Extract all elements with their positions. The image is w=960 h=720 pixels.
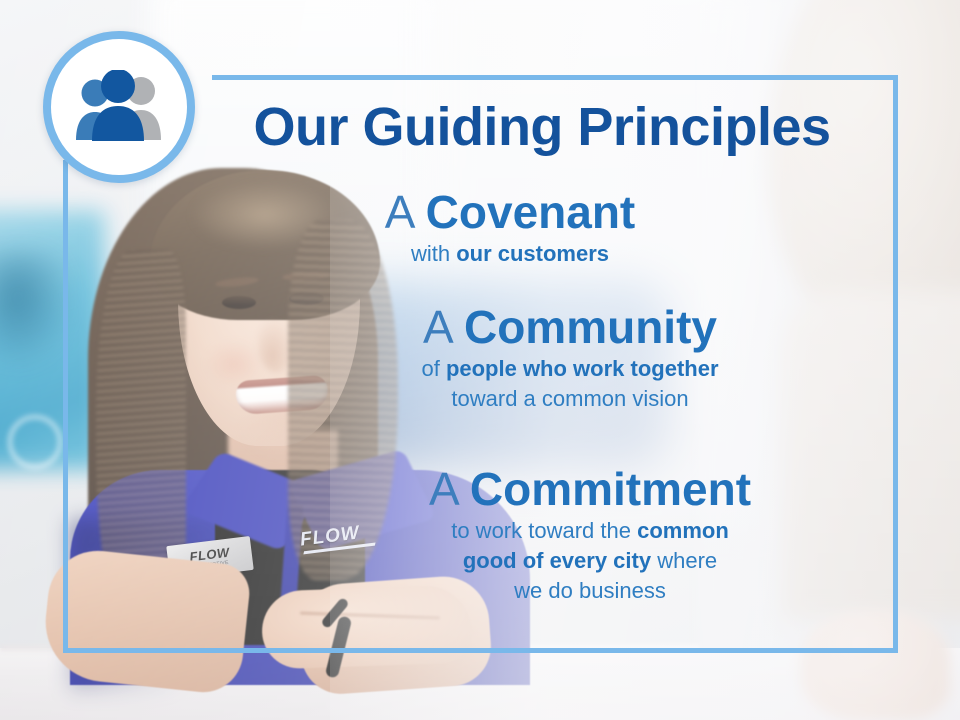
associate-eye-left	[222, 296, 256, 309]
principle-article: A	[429, 463, 470, 515]
principle-community: A Communityof people who work togetherto…	[260, 300, 880, 414]
principle-detail-line: toward a common vision	[260, 384, 880, 414]
page-title: Our Guiding Principles	[212, 97, 872, 157]
people-group-icon	[67, 70, 171, 144]
principle-detail-line: we do business	[280, 576, 900, 606]
detail-emphasis: people who work together	[446, 356, 719, 381]
principle-keyword: Commitment	[470, 463, 751, 515]
frame-border-left	[63, 160, 68, 653]
principle-detail-line: with our customers	[200, 239, 820, 269]
guiding-principles-graphic: FLOW AUTOMOTIVE FLOW Our Guidi	[0, 0, 960, 720]
principle-detail-line: to work toward the common	[280, 516, 900, 546]
principle-covenant: A Covenantwith our customers	[200, 185, 820, 269]
detail-text: to work toward the	[451, 518, 637, 543]
detail-text: of	[421, 356, 445, 381]
frame-border-bottom	[63, 648, 898, 653]
principle-article: A	[423, 301, 464, 353]
vehicle-brand-logo-blur	[8, 415, 62, 469]
frame-border-top	[212, 75, 898, 80]
principle-keyword: Covenant	[426, 186, 636, 238]
detail-text: toward a common vision	[451, 386, 688, 411]
principle-article: A	[385, 186, 426, 238]
detail-emphasis: good of every city	[463, 548, 651, 573]
detail-text: with	[411, 241, 456, 266]
principle-detail-line: good of every city where	[280, 546, 900, 576]
detail-emphasis: common	[637, 518, 729, 543]
detail-emphasis: our customers	[456, 241, 609, 266]
principle-keyword: Community	[464, 301, 717, 353]
principle-commitment: A Commitmentto work toward the commongoo…	[280, 462, 900, 606]
detail-text: we do business	[514, 578, 666, 603]
detail-text: where	[651, 548, 717, 573]
principle-headline-commitment: A Commitment	[280, 462, 900, 516]
people-badge	[43, 31, 195, 183]
principle-headline-community: A Community	[260, 300, 880, 354]
principle-detail-line: of people who work together	[260, 354, 880, 384]
principle-headline-covenant: A Covenant	[200, 185, 820, 239]
customer-hand-blur	[800, 610, 950, 720]
